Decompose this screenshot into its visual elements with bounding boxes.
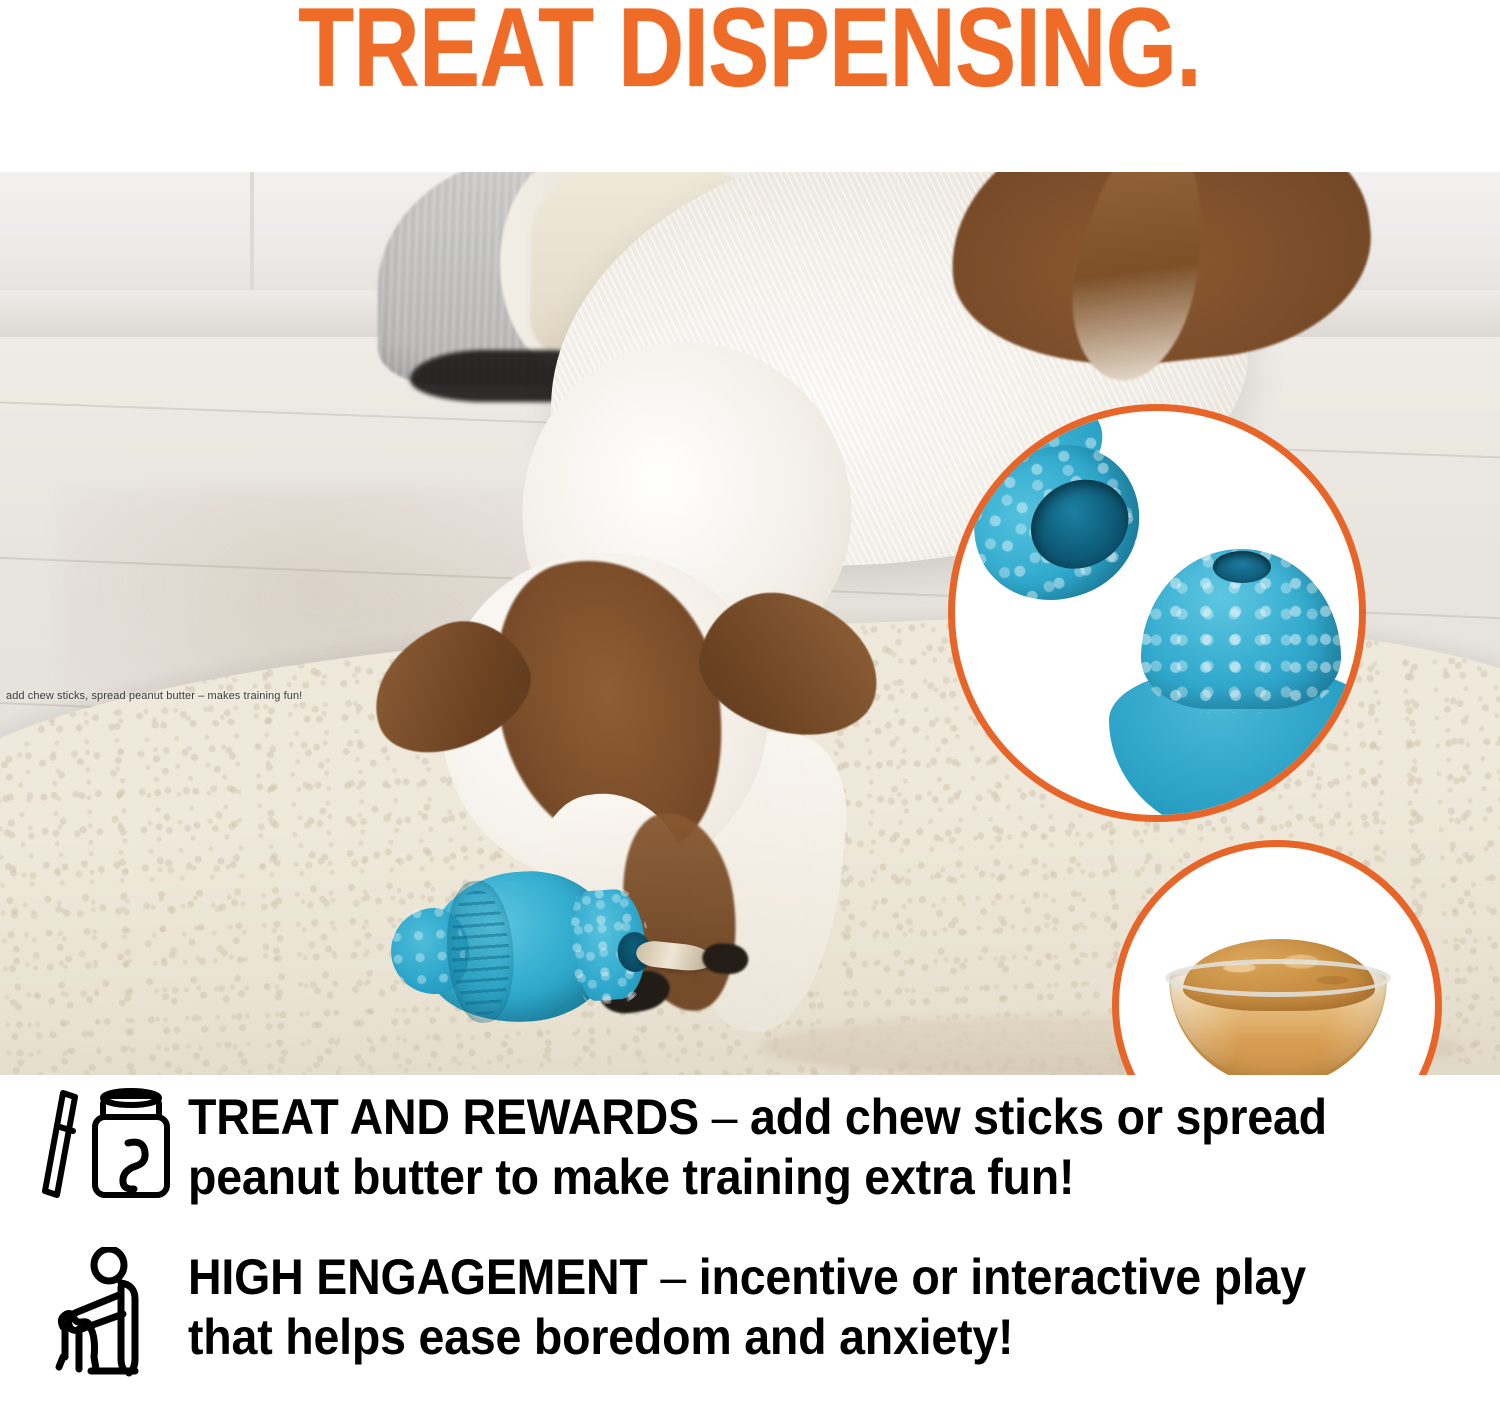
inset-toy-lower (1113, 529, 1366, 819)
peanut-butter-bowl (1169, 931, 1387, 1075)
bowl-rim (1165, 959, 1391, 997)
inset-toy-hole (1213, 551, 1271, 583)
feature-text-treat-and-rewards: TREAT AND REWARDS – add chew sticks or s… (188, 1087, 1397, 1207)
feature-list: TREAT AND REWARDS – add chew sticks or s… (0, 1075, 1500, 1406)
infographic-page: TREAT DISPENSING. (0, 0, 1500, 1406)
product-lifestyle-photo: add chew sticks, spread peanut butter – … (0, 172, 1500, 1075)
toy-detail-inset (948, 404, 1366, 822)
feature-headline: TREAT AND REWARDS (188, 1089, 699, 1145)
feature-dash: – (648, 1249, 699, 1305)
feature-text-high-engagement: HIGH ENGAGEMENT – incentive or interacti… (188, 1247, 1397, 1367)
feature-dash: – (699, 1089, 750, 1145)
feature-headline: HIGH ENGAGEMENT (188, 1249, 648, 1305)
page-title: TREAT DISPENSING. (299, 0, 1202, 100)
feature-item-high-engagement: HIGH ENGAGEMENT – incentive or interacti… (28, 1247, 1488, 1377)
photo-caption: add chew sticks, spread peanut butter – … (6, 690, 302, 702)
feature-item-treat-and-rewards: TREAT AND REWARDS – add chew sticks or s… (28, 1087, 1488, 1207)
treat-dispensing-toy (379, 853, 660, 1041)
person-with-dog-icon (28, 1247, 188, 1377)
chew-stick-and-peanut-butter-jar-icon (28, 1087, 188, 1207)
header-banner: TREAT DISPENSING. (0, 0, 1500, 172)
